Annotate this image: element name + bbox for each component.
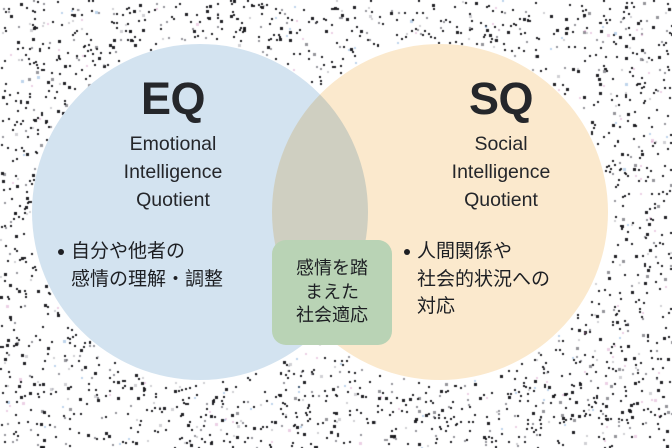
eq-bullet-line-1: 自分や他者の: [71, 238, 273, 266]
eq-subtitle-line-1: Emotional: [130, 133, 217, 155]
overlap-label-box: 感情を踏 まえた 社会適応: [272, 240, 392, 345]
sq-subtitle-line-2: Intelligence: [452, 161, 551, 183]
overlap-line-1: 感情を踏: [296, 257, 368, 281]
eq-bullet-text: 自分や他者の 感情の理解・調整: [71, 238, 273, 293]
sq-subtitle-line-3: Quotient: [464, 189, 538, 211]
sq-bullet-line-1: 人間関係や: [417, 238, 614, 266]
bullet-dot-icon: [404, 249, 410, 255]
overlap-line-2: まえた: [305, 281, 359, 305]
eq-title: EQ: [58, 76, 288, 122]
eq-text-group: EQ Emotional Intelligence Quotient: [58, 76, 288, 215]
eq-bullet-line-2: 感情の理解・調整: [71, 266, 273, 294]
sq-bullet-item: 人間関係や 社会的状況への 対応: [404, 238, 614, 321]
sq-subtitle-line-1: Social: [474, 133, 527, 155]
eq-subtitle-line-3: Quotient: [136, 189, 210, 211]
venn-diagram-canvas: EQ Emotional Intelligence Quotient 自分や他者…: [0, 0, 672, 448]
sq-subtitle: Social Intelligence Quotient: [386, 130, 616, 215]
sq-bullet-line-2: 社会的状況への: [417, 266, 614, 294]
diagram-text-layer: EQ Emotional Intelligence Quotient 自分や他者…: [0, 0, 672, 448]
sq-text-group: SQ Social Intelligence Quotient: [386, 76, 616, 215]
eq-subtitle-line-2: Intelligence: [124, 161, 223, 183]
overlap-line-3: 社会適応: [296, 304, 368, 328]
sq-bullet-line-3: 対応: [417, 293, 614, 321]
sq-title: SQ: [386, 76, 616, 122]
eq-subtitle: Emotional Intelligence Quotient: [58, 130, 288, 215]
eq-bullet-item: 自分や他者の 感情の理解・調整: [58, 238, 273, 293]
bullet-dot-icon: [58, 249, 64, 255]
sq-bullet-text: 人間関係や 社会的状況への 対応: [417, 238, 614, 321]
